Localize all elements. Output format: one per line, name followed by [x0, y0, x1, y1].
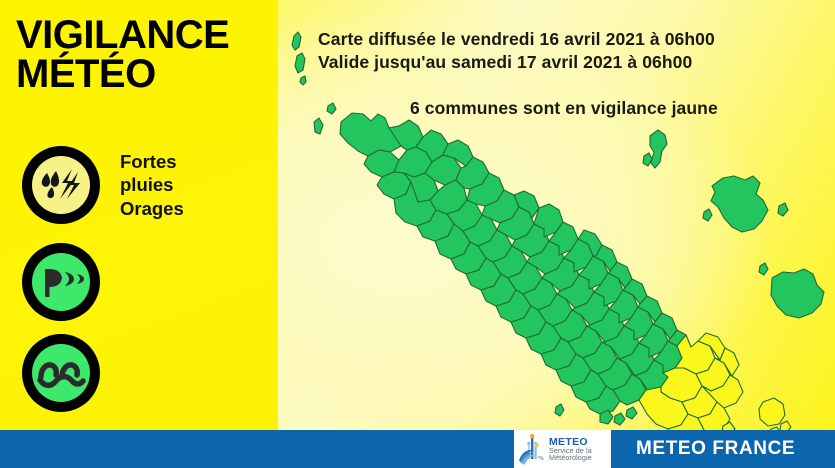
- validity-date-line: Valide jusqu'au samedi 17 avril 2021 à 0…: [318, 51, 715, 74]
- broadcast-info: Carte diffusée le vendredi 16 avril 2021…: [318, 28, 715, 74]
- title-line-2: MÉTÉO: [16, 55, 276, 94]
- ile-des-pins: [759, 398, 791, 430]
- legend-item-rain-storm: Fortes pluies Orages: [22, 146, 184, 224]
- wind-icon: [32, 253, 90, 311]
- footer-bar: METEO Service de la Météorologie METEO F…: [0, 430, 835, 468]
- issue-date-line: Carte diffusée le vendredi 16 avril 2021…: [318, 28, 715, 51]
- meteo-logo-text: METEO Service de la Météorologie: [549, 437, 592, 462]
- rain-thunderstorm-badge: [22, 146, 100, 224]
- vigilance-meteo-poster: VIGILANCE MÉTÉO Carte diffusée le vendre…: [0, 0, 835, 468]
- page-title: VIGILANCE MÉTÉO: [16, 16, 276, 94]
- legend-item-waves: [22, 334, 120, 412]
- title-line-1: VIGILANCE: [16, 13, 229, 57]
- loyalty-islands: [643, 130, 824, 318]
- legend-label-rain-storm: Fortes pluies Orages: [120, 150, 184, 219]
- legend-item-wind: [22, 243, 120, 321]
- northwest-islets: [314, 103, 336, 134]
- logo-line-3: Météorologie: [549, 454, 592, 461]
- waves-icon: [32, 344, 90, 402]
- wind-badge: [22, 243, 100, 321]
- waves-badge: [22, 334, 100, 412]
- map-landmasses: [292, 32, 824, 430]
- alert-summary: 6 communes sont en vigilance jaune: [410, 98, 718, 119]
- rain-thunderstorm-icon: [32, 156, 90, 214]
- meteo-logo-mark: [517, 433, 547, 465]
- southwest-islets: [555, 404, 564, 416]
- belep-islands: [292, 32, 306, 85]
- meteo-logo: METEO Service de la Météorologie: [514, 430, 611, 468]
- footer-brand-text: METEO FRANCE: [636, 430, 795, 468]
